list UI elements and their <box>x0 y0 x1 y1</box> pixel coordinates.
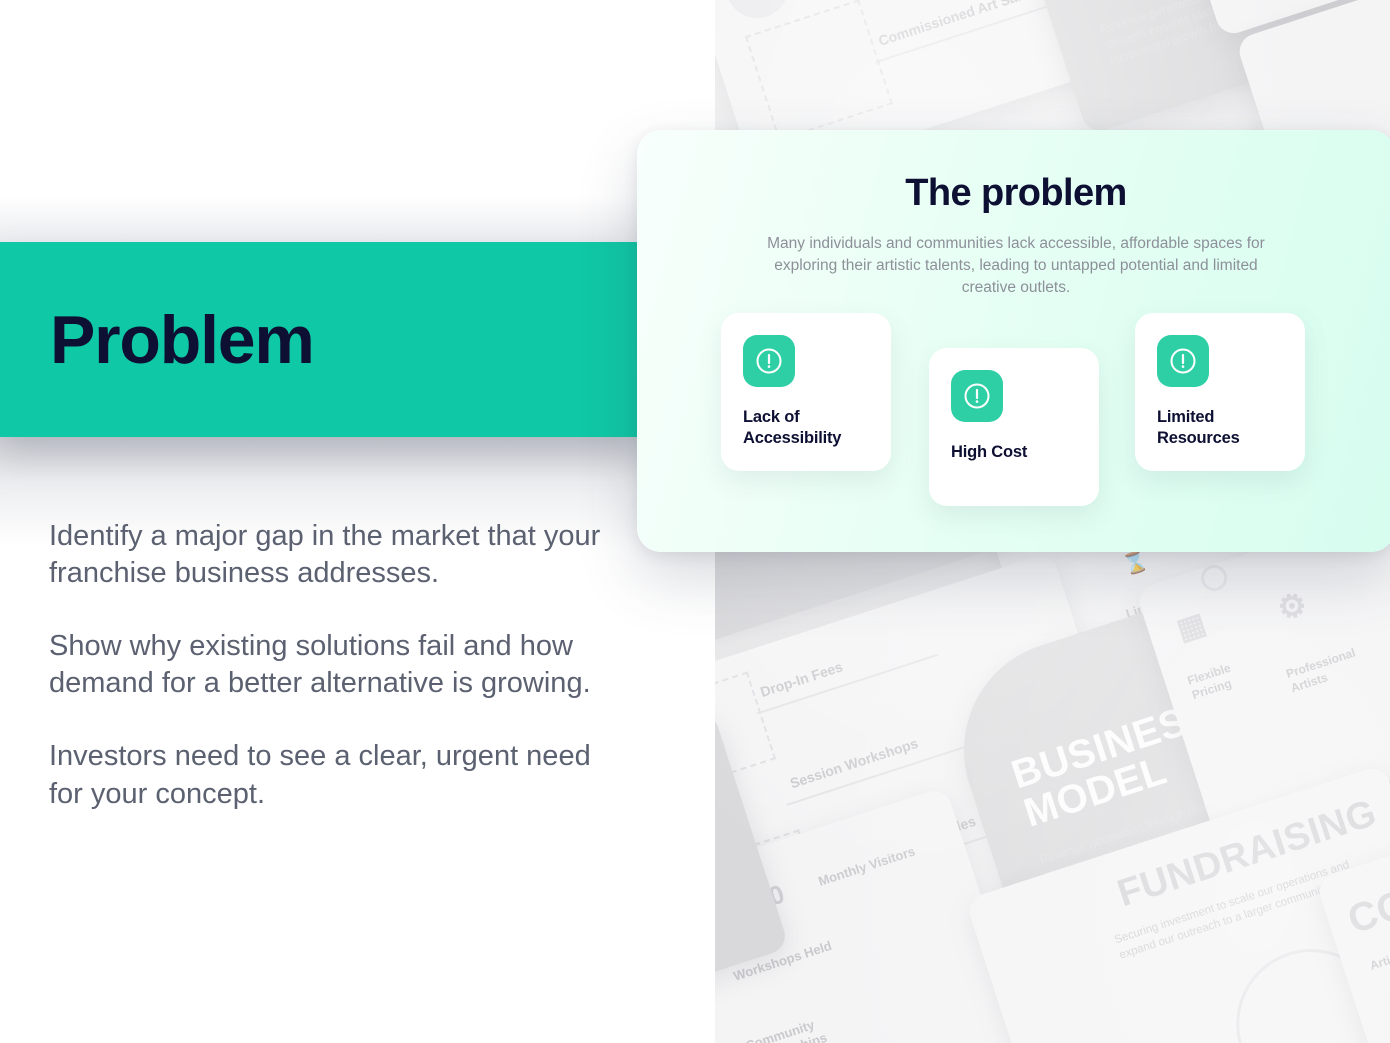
slide-preview-page: S Drop-In Fees Session Workshops Commiss… <box>0 0 1390 1043</box>
body-paragraph-2: Show why existing solutions fail and how… <box>49 628 619 702</box>
bg-label: Drop-In Fees <box>758 658 845 701</box>
exclamation-circle-icon <box>743 335 795 387</box>
bg-label: Session Workshops <box>788 735 920 793</box>
bg-label: Professional Artists <box>1284 640 1379 696</box>
bg-stat-label: Community Partnerships <box>744 1005 859 1043</box>
bg-stat-label: Monthly Visitors <box>816 843 917 890</box>
problem-card-limited-resources[interactable]: Limited Resources <box>1135 313 1305 471</box>
body-paragraph-3: Investors need to see a clear, urgent ne… <box>49 738 619 812</box>
bar-chart-icon: ▦ <box>1172 605 1211 649</box>
problem-card-title: High Cost <box>951 442 1077 463</box>
exclamation-circle-icon <box>1157 335 1209 387</box>
bg-label: Commissioned Art Sales <box>876 0 1038 50</box>
bg-label: Flexible Pricing <box>1186 650 1271 703</box>
slide-preview-card[interactable]: The problem Many individuals and communi… <box>637 130 1390 552</box>
problem-banner: Problem <box>0 242 638 437</box>
problem-card-high-cost[interactable]: High Cost <box>929 348 1099 506</box>
page-title: Problem <box>50 306 314 374</box>
exclamation-circle-icon <box>951 370 1003 422</box>
body-paragraph-1: Identify a major gap in the market that … <box>49 518 619 592</box>
hourglass-icon: ⌛ <box>1120 548 1151 579</box>
problem-cards-group: Lack of Accessibility High Cost <box>637 130 1390 552</box>
gear-icon: ⚙ <box>1272 583 1312 630</box>
bg-slide-title: COMP <box>1343 863 1390 943</box>
problem-card-title: Limited Resources <box>1157 407 1283 449</box>
body-copy: Identify a major gap in the market that … <box>49 518 619 813</box>
problem-card-lack-of-accessibility[interactable]: Lack of Accessibility <box>721 313 891 471</box>
problem-card-title: Lack of Accessibility <box>743 407 869 449</box>
